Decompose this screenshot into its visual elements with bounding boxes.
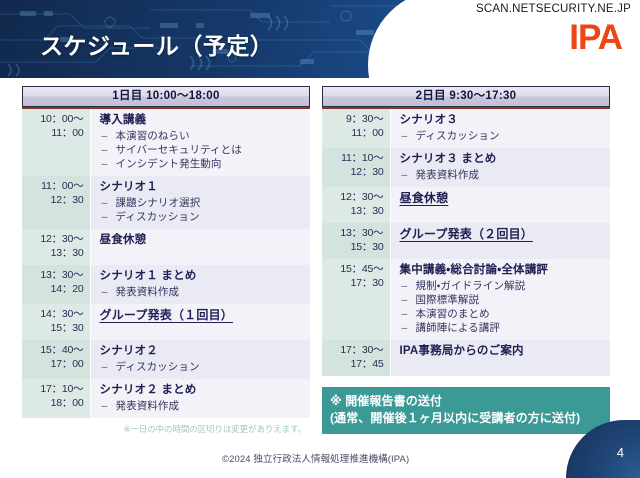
table-row: 12：30〜 13：30 昼食休憩	[322, 187, 610, 223]
time-cell: 13：30〜 15：30	[322, 223, 390, 259]
event-detail-list: 課題シナリオ選択 ディスカッション	[100, 196, 307, 224]
table-row: 9：30〜 11：00 シナリオ３ ディスカッション	[322, 109, 610, 148]
time-start: 9：30〜	[326, 113, 384, 127]
time-start: 12：30〜	[26, 233, 84, 247]
table-row: 13：30〜 15：30 グループ発表（２回目）	[322, 223, 610, 259]
event-title: 昼食休憩	[100, 233, 307, 248]
table-row: 11：10〜 12：30 シナリオ３ まとめ 発表資料作成	[322, 148, 610, 187]
copyright-text: ©2024 独立行政法人情報処理推進機構(IPA)	[222, 451, 409, 465]
event-cell: 昼食休憩	[390, 187, 610, 223]
list-item: ディスカッション	[100, 360, 307, 374]
list-item: ディスカッション	[400, 129, 607, 143]
time-cell: 11：00〜 12：30	[22, 176, 90, 229]
event-title: シナリオ２	[100, 344, 307, 359]
page-title: スケジュール（予定）	[40, 27, 273, 61]
list-item: 講師陣による講評	[400, 321, 607, 335]
table-row: 17：30〜 17：45 IPA事務局からのご案内	[322, 340, 610, 376]
event-cell: 導入講義 本演習のねらい サイバーセキュリティとは インシデント発生動向	[90, 109, 310, 176]
schedule-footnote: ※一日の中の時間の区切りは変更がありえます。	[22, 423, 310, 435]
table-row: 12：30〜 13：30 昼食休憩	[22, 229, 310, 265]
time-end: 11：00	[26, 127, 84, 141]
time-start: 13：30〜	[26, 269, 84, 283]
event-title: シナリオ３	[400, 113, 607, 128]
event-title: 昼食休憩	[400, 191, 607, 206]
table-row: 11：00〜 12：30 シナリオ１ 課題シナリオ選択 ディスカッション	[22, 176, 310, 229]
time-start: 13：30〜	[326, 227, 384, 241]
list-item: インシデント発生動向	[100, 157, 307, 171]
table-row: 13：30〜 14：20 シナリオ１ まとめ 発表資料作成	[22, 265, 310, 304]
watermark-url: SCAN.NETSECURITY.NE.JP	[476, 3, 631, 15]
time-cell: 17：10〜 18：00	[22, 379, 90, 418]
list-item: ディスカッション	[100, 210, 307, 224]
schedule-column-day1: 1日目 10:00〜18:00 10：00〜 11：00 導入講義 本演習のねら…	[22, 86, 310, 440]
table-row: 10：00〜 11：00 導入講義 本演習のねらい サイバーセキュリティとは イ…	[22, 109, 310, 176]
time-end: 18：00	[26, 397, 84, 411]
time-start: 11：00〜	[26, 180, 84, 194]
time-start: 15：45〜	[326, 263, 384, 277]
notice-line-1: ※ 開催報告書の送付	[330, 393, 602, 410]
event-cell: シナリオ２ まとめ 発表資料作成	[90, 379, 310, 418]
list-item: 発表資料作成	[100, 399, 307, 413]
time-start: 14：30〜	[26, 308, 84, 322]
event-title: グループ発表（１回目）	[100, 308, 307, 323]
table-row: 15：45〜 17：30 集中講義・総合討論・全体講評 規制・ガイドライン解説 …	[322, 259, 610, 340]
event-title: シナリオ２ まとめ	[100, 383, 307, 398]
time-cell: 12：30〜 13：30	[22, 229, 90, 265]
event-detail-list: 発表資料作成	[400, 168, 607, 182]
event-cell: 集中講義・総合討論・全体講評 規制・ガイドライン解説 国際標準解説 本演習のまと…	[390, 259, 610, 340]
event-detail-list: ディスカッション	[100, 360, 307, 374]
event-detail-list: 発表資料作成	[100, 285, 307, 299]
event-title: シナリオ３ まとめ	[400, 152, 607, 167]
event-cell: シナリオ２ ディスカッション	[90, 340, 310, 379]
event-detail-list: 本演習のねらい サイバーセキュリティとは インシデント発生動向	[100, 129, 307, 171]
list-item: 本演習のねらい	[100, 129, 307, 143]
time-start: 17：10〜	[26, 383, 84, 397]
time-cell: 14：30〜 15：30	[22, 304, 90, 340]
table-row: 14：30〜 15：30 グループ発表（１回目）	[22, 304, 310, 340]
event-detail-list: ディスカッション	[400, 129, 607, 143]
time-start: 10：00〜	[26, 113, 84, 127]
time-cell: 17：30〜 17：45	[322, 340, 390, 376]
list-item: 課題シナリオ選択	[100, 196, 307, 210]
event-cell: 昼食休憩	[90, 229, 310, 265]
column-header-day2: 2日目 9:30〜17:30	[322, 86, 610, 107]
slide-header: SCAN.NETSECURITY.NE.JP IPA スケジュール（予定）	[0, 0, 640, 78]
event-title: 導入講義	[100, 113, 307, 128]
event-cell: グループ発表（２回目）	[390, 223, 610, 259]
time-start: 15：40〜	[26, 344, 84, 358]
time-cell: 15：45〜 17：30	[322, 259, 390, 340]
notice-line-2: (通常、開催後１ヶ月以内に受講者の方に送付)	[330, 410, 602, 427]
time-cell: 10：00〜 11：00	[22, 109, 90, 176]
event-title: シナリオ１	[100, 180, 307, 195]
time-cell: 13：30〜 14：20	[22, 265, 90, 304]
time-cell: 12：30〜 13：30	[322, 187, 390, 223]
event-cell: シナリオ３ ディスカッション	[390, 109, 610, 148]
time-start: 17：30〜	[326, 344, 384, 358]
time-end: 12：30	[326, 166, 384, 180]
event-cell: シナリオ１ 課題シナリオ選択 ディスカッション	[90, 176, 310, 229]
event-cell: シナリオ１ まとめ 発表資料作成	[90, 265, 310, 304]
event-title: 集中講義・総合討論・全体講評	[400, 263, 607, 278]
event-title: シナリオ１ まとめ	[100, 269, 307, 284]
time-end: 13：30	[326, 205, 384, 219]
time-end: 17：45	[326, 358, 384, 372]
time-end: 15：30	[26, 322, 84, 336]
event-title: IPA事務局からのご案内	[400, 344, 607, 359]
list-item: サイバーセキュリティとは	[100, 143, 307, 157]
schedule-table-day1: 10：00〜 11：00 導入講義 本演習のねらい サイバーセキュリティとは イ…	[22, 109, 310, 418]
list-item: 本演習のまとめ	[400, 307, 607, 321]
slide-footer: ©2024 独立行政法人情報処理推進機構(IPA) 4	[0, 440, 640, 478]
time-cell: 11：10〜 12：30	[322, 148, 390, 187]
page-number: 4	[617, 445, 624, 460]
event-cell: グループ発表（１回目）	[90, 304, 310, 340]
list-item: 国際標準解説	[400, 293, 607, 307]
list-item: 発表資料作成	[400, 168, 607, 182]
time-start: 12：30〜	[326, 191, 384, 205]
notice-box: ※ 開催報告書の送付 (通常、開催後１ヶ月以内に受講者の方に送付)	[322, 387, 610, 434]
time-cell: 9：30〜 11：00	[322, 109, 390, 148]
event-detail-list: 規制・ガイドライン解説 国際標準解説 本演習のまとめ 講師陣による講評	[400, 279, 607, 335]
list-item: 規制・ガイドライン解説	[400, 279, 607, 293]
time-end: 15：30	[326, 241, 384, 255]
event-cell: IPA事務局からのご案内	[390, 340, 610, 376]
time-end: 17：30	[326, 277, 384, 291]
slide: SCAN.NETSECURITY.NE.JP IPA スケジュール（予定） 1日…	[0, 0, 640, 478]
time-end: 14：20	[26, 283, 84, 297]
schedule-table-day2: 9：30〜 11：00 シナリオ３ ディスカッション 11：10〜	[322, 109, 610, 376]
time-cell: 15：40〜 17：00	[22, 340, 90, 379]
column-header-day1: 1日目 10:00〜18:00	[22, 86, 310, 107]
time-end: 12：30	[26, 194, 84, 208]
table-row: 15：40〜 17：00 シナリオ２ ディスカッション	[22, 340, 310, 379]
time-start: 11：10〜	[326, 152, 384, 166]
list-item: 発表資料作成	[100, 285, 307, 299]
event-title: グループ発表（２回目）	[400, 227, 607, 242]
schedule-body: 1日目 10:00〜18:00 10：00〜 11：00 導入講義 本演習のねら…	[0, 78, 640, 440]
time-end: 17：00	[26, 358, 84, 372]
schedule-column-day2: 2日目 9:30〜17:30 9：30〜 11：00 シナリオ３ ディスカッショ…	[322, 86, 610, 440]
table-row: 17：10〜 18：00 シナリオ２ まとめ 発表資料作成	[22, 379, 310, 418]
ipa-logo: IPA	[569, 20, 622, 55]
time-end: 13：30	[26, 247, 84, 261]
time-end: 11：00	[326, 127, 384, 141]
event-detail-list: 発表資料作成	[100, 399, 307, 413]
event-cell: シナリオ３ まとめ 発表資料作成	[390, 148, 610, 187]
